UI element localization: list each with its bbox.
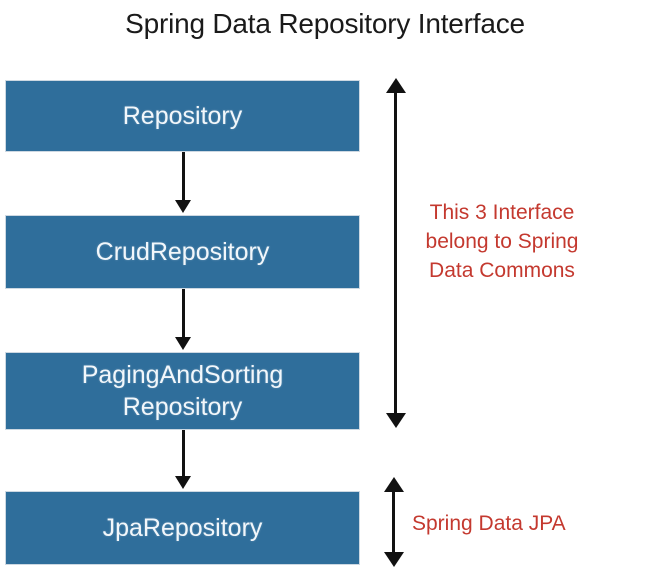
arrow-down-icon-pagingandsortingrepository-to-jparepository bbox=[175, 430, 191, 491]
arrow-down-icon-repository-to-crudrepository bbox=[175, 152, 191, 215]
arrow-down-icon-crudrepository-to-pagingandsortingrepository bbox=[175, 289, 191, 352]
page-title: Spring Data Repository Interface bbox=[0, 6, 650, 42]
annotation-spring-data-jpa: Spring Data JPA bbox=[412, 511, 612, 537]
double-arrow-icon-spring-data-jpa bbox=[384, 477, 404, 567]
node-label-repository: Repository bbox=[6, 100, 359, 132]
double-arrow-icon-spring-data-commons bbox=[386, 78, 406, 428]
arrow-head-icon bbox=[175, 476, 191, 489]
node-box-repository[interactable]: Repository bbox=[5, 80, 360, 152]
arrow-head-down-icon bbox=[384, 552, 404, 567]
node-box-pagingandsortingrepository[interactable]: PagingAndSorting Repository bbox=[5, 352, 360, 430]
arrow-head-icon bbox=[175, 200, 191, 213]
annotation-spring-data-commons: This 3 Interface belong to Spring Data C… bbox=[412, 198, 592, 285]
arrow-shaft bbox=[182, 289, 185, 339]
arrow-head-down-icon bbox=[386, 413, 406, 428]
node-label-jparepository: JpaRepository bbox=[6, 512, 359, 544]
node-box-crudrepository[interactable]: CrudRepository bbox=[5, 215, 360, 289]
node-label-crudrepository: CrudRepository bbox=[6, 236, 359, 268]
node-box-jparepository[interactable]: JpaRepository bbox=[5, 491, 360, 565]
arrow-shaft bbox=[394, 88, 397, 418]
diagram-canvas: Spring Data Repository Interface Reposit… bbox=[0, 0, 650, 576]
arrow-head-icon bbox=[175, 337, 191, 350]
arrow-shaft bbox=[392, 487, 395, 557]
arrow-shaft bbox=[182, 430, 185, 478]
arrow-shaft bbox=[182, 152, 185, 202]
node-label-pagingandsortingrepository: PagingAndSorting Repository bbox=[6, 359, 359, 423]
